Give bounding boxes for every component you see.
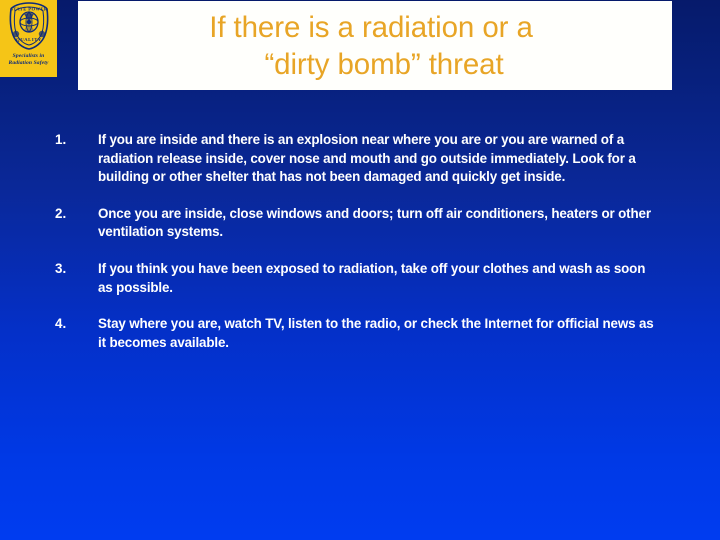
- logo-tagline-line-1: Specialists in: [1, 53, 56, 60]
- list-item: 1. If you are inside and there is an exp…: [55, 131, 655, 187]
- logo-tagline-line-2: Radiation Safety: [1, 60, 56, 67]
- svg-text:STATE POWER: STATE POWER: [10, 7, 48, 12]
- list-item-text: Once you are inside, close windows and d…: [98, 205, 655, 242]
- list-item-number: 2.: [55, 205, 98, 224]
- list-item-number: 3.: [55, 260, 98, 279]
- svg-text:QUALITY: QUALITY: [16, 37, 42, 42]
- list-item: 3. If you think you have been exposed to…: [55, 260, 655, 297]
- logo-tagline: Specialists in Radiation Safety: [1, 53, 56, 67]
- shield-badge-icon: STATE POWER QUALITY: [7, 1, 51, 51]
- organization-logo: STATE POWER QUALITY Specialists in Radia…: [0, 0, 57, 77]
- list-item-text: If you think you have been exposed to ra…: [98, 260, 655, 297]
- list-item-number: 1.: [55, 131, 98, 150]
- list-item-text: Stay where you are, watch TV, listen to …: [98, 315, 655, 352]
- numbered-instruction-list: 1. If you are inside and there is an exp…: [55, 131, 655, 370]
- list-item-number: 4.: [55, 315, 98, 334]
- list-item: 2. Once you are inside, close windows an…: [55, 205, 655, 242]
- list-item-text: If you are inside and there is an explos…: [98, 131, 655, 187]
- slide-title-line-2: “dirty bomb” threat: [246, 46, 503, 83]
- presentation-slide: STATE POWER QUALITY Specialists in Radia…: [0, 0, 720, 540]
- list-item: 4. Stay where you are, watch TV, listen …: [55, 315, 655, 352]
- slide-title-box: If there is a radiation or a “dirty bomb…: [78, 1, 672, 90]
- slide-title-line-1: If there is a radiation or a: [209, 9, 541, 46]
